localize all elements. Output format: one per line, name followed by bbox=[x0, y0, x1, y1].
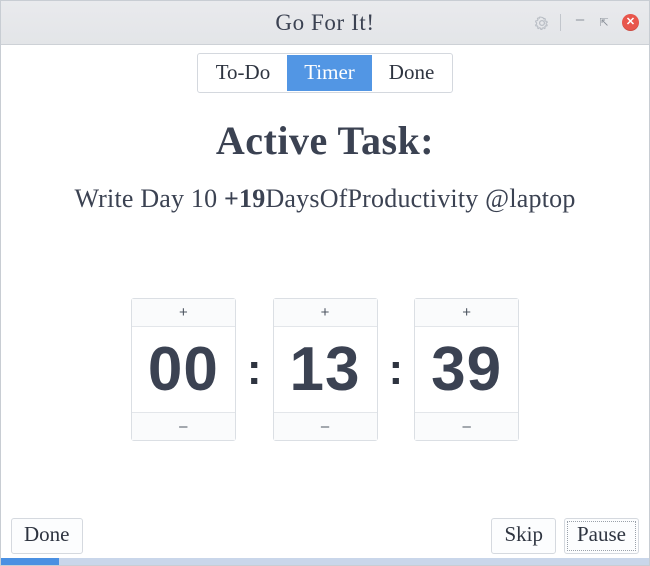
minimize-button[interactable]: – bbox=[568, 8, 592, 38]
minutes-decrease-button[interactable]: – bbox=[274, 412, 377, 440]
settings-gear-button[interactable] bbox=[529, 10, 555, 36]
tab-todo[interactable]: To-Do bbox=[199, 55, 288, 91]
skip-button[interactable]: Skip bbox=[491, 518, 556, 553]
pause-button[interactable]: Pause bbox=[564, 518, 639, 553]
seconds-value[interactable]: 39 bbox=[415, 327, 518, 412]
controls-divider bbox=[560, 14, 561, 31]
minutes-stepper: + 13 – bbox=[273, 298, 378, 441]
active-task-text: Write Day 10 +19DaysOfProductivity @lapt… bbox=[1, 184, 649, 214]
tab-bar: To-Do Timer Done bbox=[1, 45, 649, 93]
page-title: Active Task: bbox=[1, 117, 649, 164]
seconds-decrease-button[interactable]: – bbox=[415, 412, 518, 440]
title-bar: Go For It! – ⇱ ✕ bbox=[1, 1, 649, 45]
tab-timer[interactable]: Timer bbox=[287, 55, 372, 91]
window-controls: – ⇱ ✕ bbox=[529, 1, 639, 44]
seconds-increase-button[interactable]: + bbox=[415, 299, 518, 327]
action-bar-right: Skip Pause bbox=[491, 518, 639, 553]
action-bar: Done Skip Pause bbox=[1, 514, 649, 558]
task-tag-number: +19 bbox=[224, 184, 265, 213]
hours-stepper: + 00 – bbox=[131, 298, 236, 441]
close-button[interactable]: ✕ bbox=[622, 14, 639, 31]
hours-decrease-button[interactable]: – bbox=[132, 412, 235, 440]
minutes-value[interactable]: 13 bbox=[274, 327, 377, 412]
app-window: Go For It! – ⇱ ✕ To-Do Timer Done Active… bbox=[0, 0, 650, 566]
timer-separator-1: : bbox=[236, 348, 273, 392]
minutes-increase-button[interactable]: + bbox=[274, 299, 377, 327]
timer-row: + 00 – : + 13 – : + 39 – bbox=[131, 298, 519, 441]
task-context: @laptop bbox=[478, 184, 575, 213]
hours-value[interactable]: 00 bbox=[132, 327, 235, 412]
timer-progress-fill bbox=[1, 558, 59, 565]
timer-area: + 00 – : + 13 – : + 39 – bbox=[1, 214, 649, 514]
restore-button[interactable]: ⇱ bbox=[592, 11, 616, 35]
tab-group: To-Do Timer Done bbox=[197, 53, 454, 93]
task-prefix: Write Day 10 bbox=[74, 184, 224, 213]
timer-separator-2: : bbox=[378, 348, 415, 392]
hours-increase-button[interactable]: + bbox=[132, 299, 235, 327]
tab-done[interactable]: Done bbox=[372, 55, 452, 91]
done-button[interactable]: Done bbox=[11, 518, 83, 553]
window-title: Go For It! bbox=[275, 10, 374, 36]
timer-progress-bar bbox=[1, 558, 649, 565]
seconds-stepper: + 39 – bbox=[414, 298, 519, 441]
gear-icon bbox=[533, 14, 551, 32]
task-tag-name: DaysOfProductivity bbox=[265, 184, 478, 213]
